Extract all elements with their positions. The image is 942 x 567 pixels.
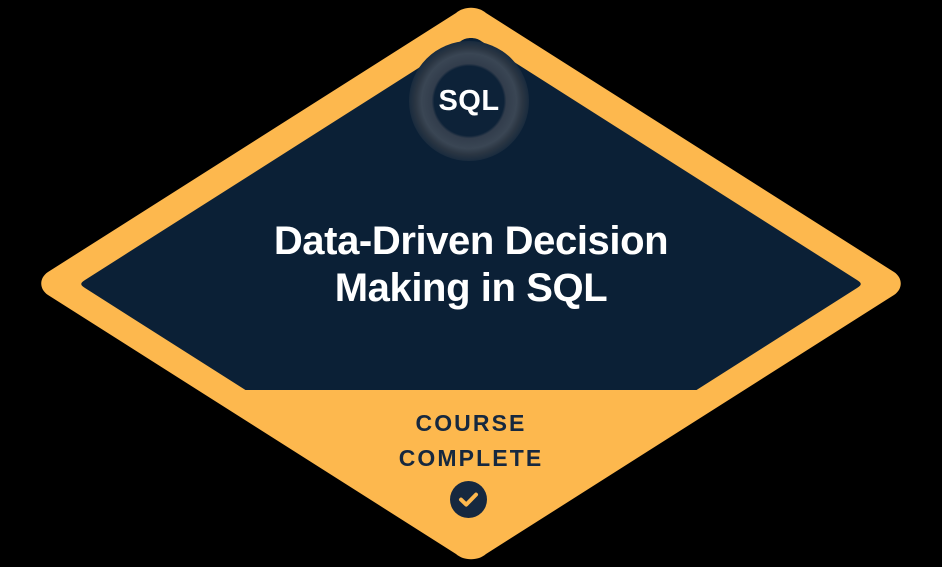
badge-shape — [0, 0, 942, 567]
course-completion-badge: SQL Data-Driven Decision Making in SQL C… — [0, 0, 942, 567]
